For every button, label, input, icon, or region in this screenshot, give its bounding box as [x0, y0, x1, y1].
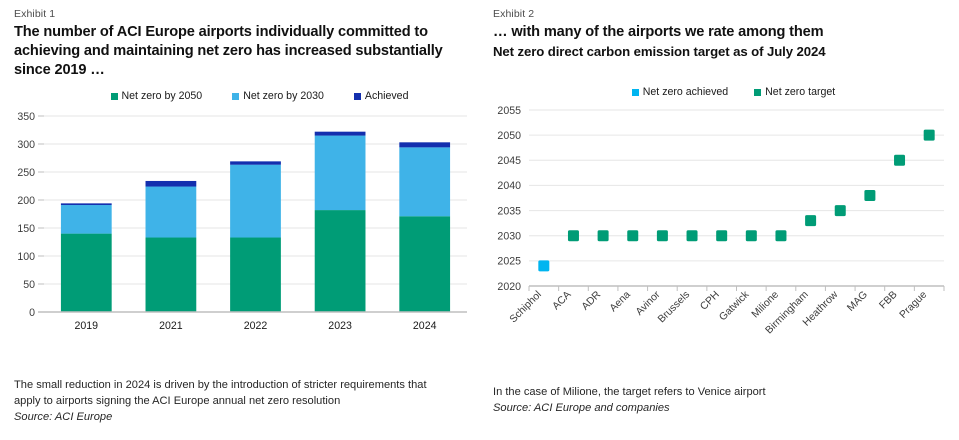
- legend-label: Net zero by 2030: [243, 90, 324, 102]
- y-axis-tick-label: 100: [17, 251, 35, 263]
- bar-group[interactable]: [230, 162, 281, 313]
- source-note: Source: ACI Europe: [14, 410, 469, 426]
- y-axis-tick-label: 250: [17, 167, 35, 179]
- bar-segment[interactable]: [61, 205, 112, 234]
- bar-segment[interactable]: [61, 234, 112, 312]
- bar-segment[interactable]: [399, 143, 450, 148]
- scatter-marker[interactable]: [657, 230, 668, 241]
- bar-segment[interactable]: [315, 132, 366, 136]
- y-axis-tick-label: 300: [17, 139, 35, 151]
- bar-group[interactable]: [146, 181, 197, 312]
- bar-segment[interactable]: [61, 204, 112, 206]
- y-axis-tick-label: 2045: [497, 155, 521, 167]
- x-axis-category-label: 2023: [328, 320, 352, 332]
- exhibit-1-panel: Exhibit 1 The number of ACI Europe airpo…: [0, 0, 479, 440]
- scatter-marker[interactable]: [746, 230, 757, 241]
- y-axis-tick-label: 350: [17, 111, 35, 123]
- x-axis-category-label: ACA: [551, 290, 574, 313]
- legend-label: Achieved: [365, 90, 409, 102]
- bar-segment[interactable]: [146, 187, 197, 238]
- bar-segment[interactable]: [146, 181, 197, 187]
- scatter-marker[interactable]: [687, 230, 698, 241]
- legend-swatch-icon: [232, 93, 239, 100]
- scatter-marker[interactable]: [716, 230, 727, 241]
- y-axis-tick-label: 2040: [497, 180, 521, 192]
- scatter-marker[interactable]: [538, 261, 549, 272]
- legend-label: Net zero by 2050: [122, 90, 203, 102]
- x-axis-category-label: 2019: [75, 320, 99, 332]
- exhibit-2-headline: … with many of the airports we rate amon…: [493, 23, 948, 42]
- y-axis-tick-label: 2030: [497, 231, 521, 243]
- y-axis-tick-label: 0: [29, 307, 35, 319]
- legend-item-net-zero-achieved[interactable]: Net zero achieved: [632, 86, 728, 98]
- exhibit-2-chart-wrap: 20202025203020352040204520502055Schiphol…: [479, 102, 958, 372]
- x-axis-category-label: Gatwick: [718, 289, 752, 323]
- x-axis-category-label: ADR: [580, 289, 604, 313]
- exhibit-1-chart-wrap: 0501001502002503003502019202120222023202…: [0, 108, 479, 348]
- exhibit-1-legend: Net zero by 2050 Net zero by 2030 Achiev…: [0, 90, 479, 102]
- y-axis-tick-label: 200: [17, 195, 35, 207]
- exhibit-2-label: Exhibit 2: [493, 8, 958, 20]
- scatter-marker[interactable]: [775, 230, 786, 241]
- x-axis-category-label: Brussels: [656, 290, 692, 326]
- footnote-line-1: In the case of Milione, the target refer…: [493, 385, 943, 401]
- x-axis-category-label: MAG: [845, 290, 870, 315]
- y-axis-tick-label: 150: [17, 223, 35, 235]
- bar-segment[interactable]: [315, 136, 366, 210]
- x-axis-category-label: 2021: [159, 320, 183, 332]
- bar-segment[interactable]: [315, 210, 366, 312]
- exhibit-2-footnote: In the case of Milione, the target refer…: [493, 385, 943, 417]
- bar-segment[interactable]: [146, 238, 197, 312]
- x-axis-category-label: Prague: [898, 289, 930, 321]
- footnote-line-2: apply to airports signing the ACI Europe…: [14, 394, 469, 410]
- bar-segment[interactable]: [230, 162, 281, 165]
- bar-segment[interactable]: [399, 148, 450, 217]
- scatter-marker[interactable]: [805, 215, 816, 226]
- legend-item-achieved[interactable]: Achieved: [354, 90, 409, 102]
- source-note: Source: ACI Europe and companies: [493, 401, 943, 417]
- exhibit-1-chart: 0501001502002503003502019202120222023202…: [0, 108, 479, 348]
- y-axis-tick-label: 50: [23, 279, 35, 291]
- legend-item-net-zero-2030[interactable]: Net zero by 2030: [232, 90, 324, 102]
- x-axis-category-label: 2024: [413, 320, 437, 332]
- legend-swatch-icon: [354, 93, 361, 100]
- legend-item-net-zero-2050[interactable]: Net zero by 2050: [111, 90, 203, 102]
- bar-group[interactable]: [399, 143, 450, 313]
- exhibit-page: Exhibit 1 The number of ACI Europe airpo…: [0, 0, 959, 440]
- y-axis-tick-label: 2035: [497, 206, 521, 218]
- bar-segment[interactable]: [230, 165, 281, 238]
- legend-label: Net zero target: [765, 86, 835, 98]
- legend-label: Net zero achieved: [643, 86, 728, 98]
- y-axis-tick-label: 2055: [497, 105, 521, 117]
- x-axis-category-label: Avinor: [634, 289, 663, 318]
- bar-segment[interactable]: [230, 238, 281, 312]
- scatter-marker[interactable]: [598, 230, 609, 241]
- scatter-marker[interactable]: [568, 230, 579, 241]
- legend-swatch-icon: [111, 93, 118, 100]
- y-axis-tick-label: 2025: [497, 256, 521, 268]
- x-axis-category-label: FBB: [878, 290, 900, 312]
- bar-group[interactable]: [61, 204, 112, 313]
- scatter-marker[interactable]: [627, 230, 638, 241]
- exhibit-2-subheadline: Net zero direct carbon emission target a…: [493, 43, 948, 60]
- scatter-marker[interactable]: [835, 205, 846, 216]
- x-axis-category-label: CPH: [698, 290, 721, 313]
- exhibit-2-legend: Net zero achieved Net zero target: [479, 86, 958, 98]
- x-axis-category-label: Aena: [608, 289, 633, 314]
- scatter-marker[interactable]: [864, 190, 875, 201]
- x-axis-category-label: Schiphol: [508, 290, 544, 326]
- x-axis-category-label: 2022: [244, 320, 268, 332]
- exhibit-1-headline: The number of ACI Europe airports indivi…: [14, 23, 469, 80]
- exhibit-1-footnote: The small reduction in 2024 is driven by…: [14, 378, 469, 425]
- scatter-marker[interactable]: [924, 130, 935, 141]
- y-axis-tick-label: 2050: [497, 130, 521, 142]
- footnote-line-1: The small reduction in 2024 is driven by…: [14, 378, 469, 394]
- bar-segment[interactable]: [399, 217, 450, 313]
- exhibit-2-chart: 20202025203020352040204520502055Schiphol…: [479, 102, 958, 372]
- scatter-marker[interactable]: [894, 155, 905, 166]
- exhibit-1-label: Exhibit 1: [14, 8, 479, 20]
- legend-item-net-zero-target[interactable]: Net zero target: [754, 86, 835, 98]
- bar-group[interactable]: [315, 132, 366, 312]
- exhibit-2-panel: Exhibit 2 … with many of the airports we…: [479, 0, 958, 440]
- legend-swatch-icon: [632, 89, 639, 96]
- y-axis-tick-label: 2020: [497, 281, 521, 293]
- legend-swatch-icon: [754, 89, 761, 96]
